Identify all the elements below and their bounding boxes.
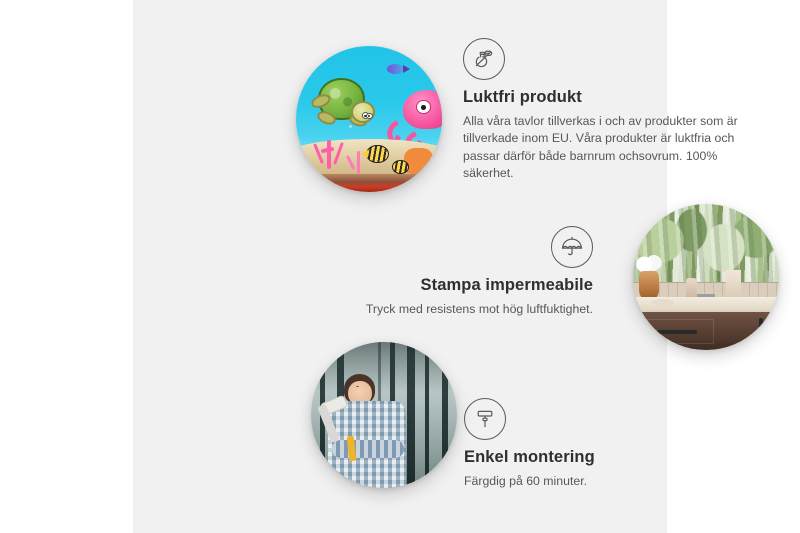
no-spray-bottle-icon xyxy=(463,38,505,80)
starfish xyxy=(404,148,433,174)
feature-title: Stampa impermeabile xyxy=(329,276,593,296)
smile xyxy=(356,386,358,387)
media-circle-painter-forest xyxy=(311,342,457,488)
feature-easy-install: Enkel montering Färgdig på 60 minuter. xyxy=(464,398,746,490)
feature-body: Färgdig på 60 minuter. xyxy=(464,473,746,490)
feature-body: Alla våra tavlor tillverkas i och av pro… xyxy=(463,113,745,183)
octopus-eye xyxy=(416,100,430,114)
feature-waterproof: Stampa impermeabile Tryck med resistens … xyxy=(329,226,593,318)
striped-fish xyxy=(392,160,409,174)
feature-icon-wrap xyxy=(463,38,745,80)
door-handle xyxy=(759,318,763,340)
coral-left xyxy=(311,125,349,169)
feature-icon-wrap xyxy=(464,398,746,440)
turtle-eye xyxy=(366,113,373,120)
feature-icon-wrap xyxy=(329,226,593,268)
underwater-artwork xyxy=(296,46,442,192)
feature-body: Tryck med resistens mot hög luftfuktighe… xyxy=(329,301,593,318)
feature-title: Luktfri produkt xyxy=(463,88,745,108)
toiletry-bottle xyxy=(726,270,741,299)
feature-odourless: Luktfri produkt Alla våra tavlor tillver… xyxy=(463,38,745,183)
paint-roller-icon xyxy=(464,398,506,440)
umbrella-icon xyxy=(551,226,593,268)
painter-artwork xyxy=(311,342,457,488)
purple-fish xyxy=(387,64,405,74)
striped-fish xyxy=(366,145,388,163)
product-feature-panel: Luktfri produkt Alla våra tavlor tillver… xyxy=(0,0,800,533)
sea-turtle xyxy=(315,78,373,131)
feature-title: Enkel montering xyxy=(464,448,746,468)
crossed-arms xyxy=(332,440,404,458)
copper-vase xyxy=(639,271,659,300)
bathroom-artwork xyxy=(633,204,779,350)
painter-woman xyxy=(323,374,414,488)
content-panel: Luktfri produkt Alla våra tavlor tillver… xyxy=(133,0,667,533)
drawer-handle xyxy=(657,330,696,334)
media-circle-bathroom-wallpaper xyxy=(633,204,779,350)
toiletry-bottle xyxy=(686,278,698,298)
turtle-head xyxy=(351,101,375,123)
sea-floor-strip xyxy=(296,174,442,192)
media-circle-underwater-mural xyxy=(296,46,442,192)
wood-vanity-cabinet xyxy=(636,312,779,350)
octopus-body xyxy=(403,90,442,129)
